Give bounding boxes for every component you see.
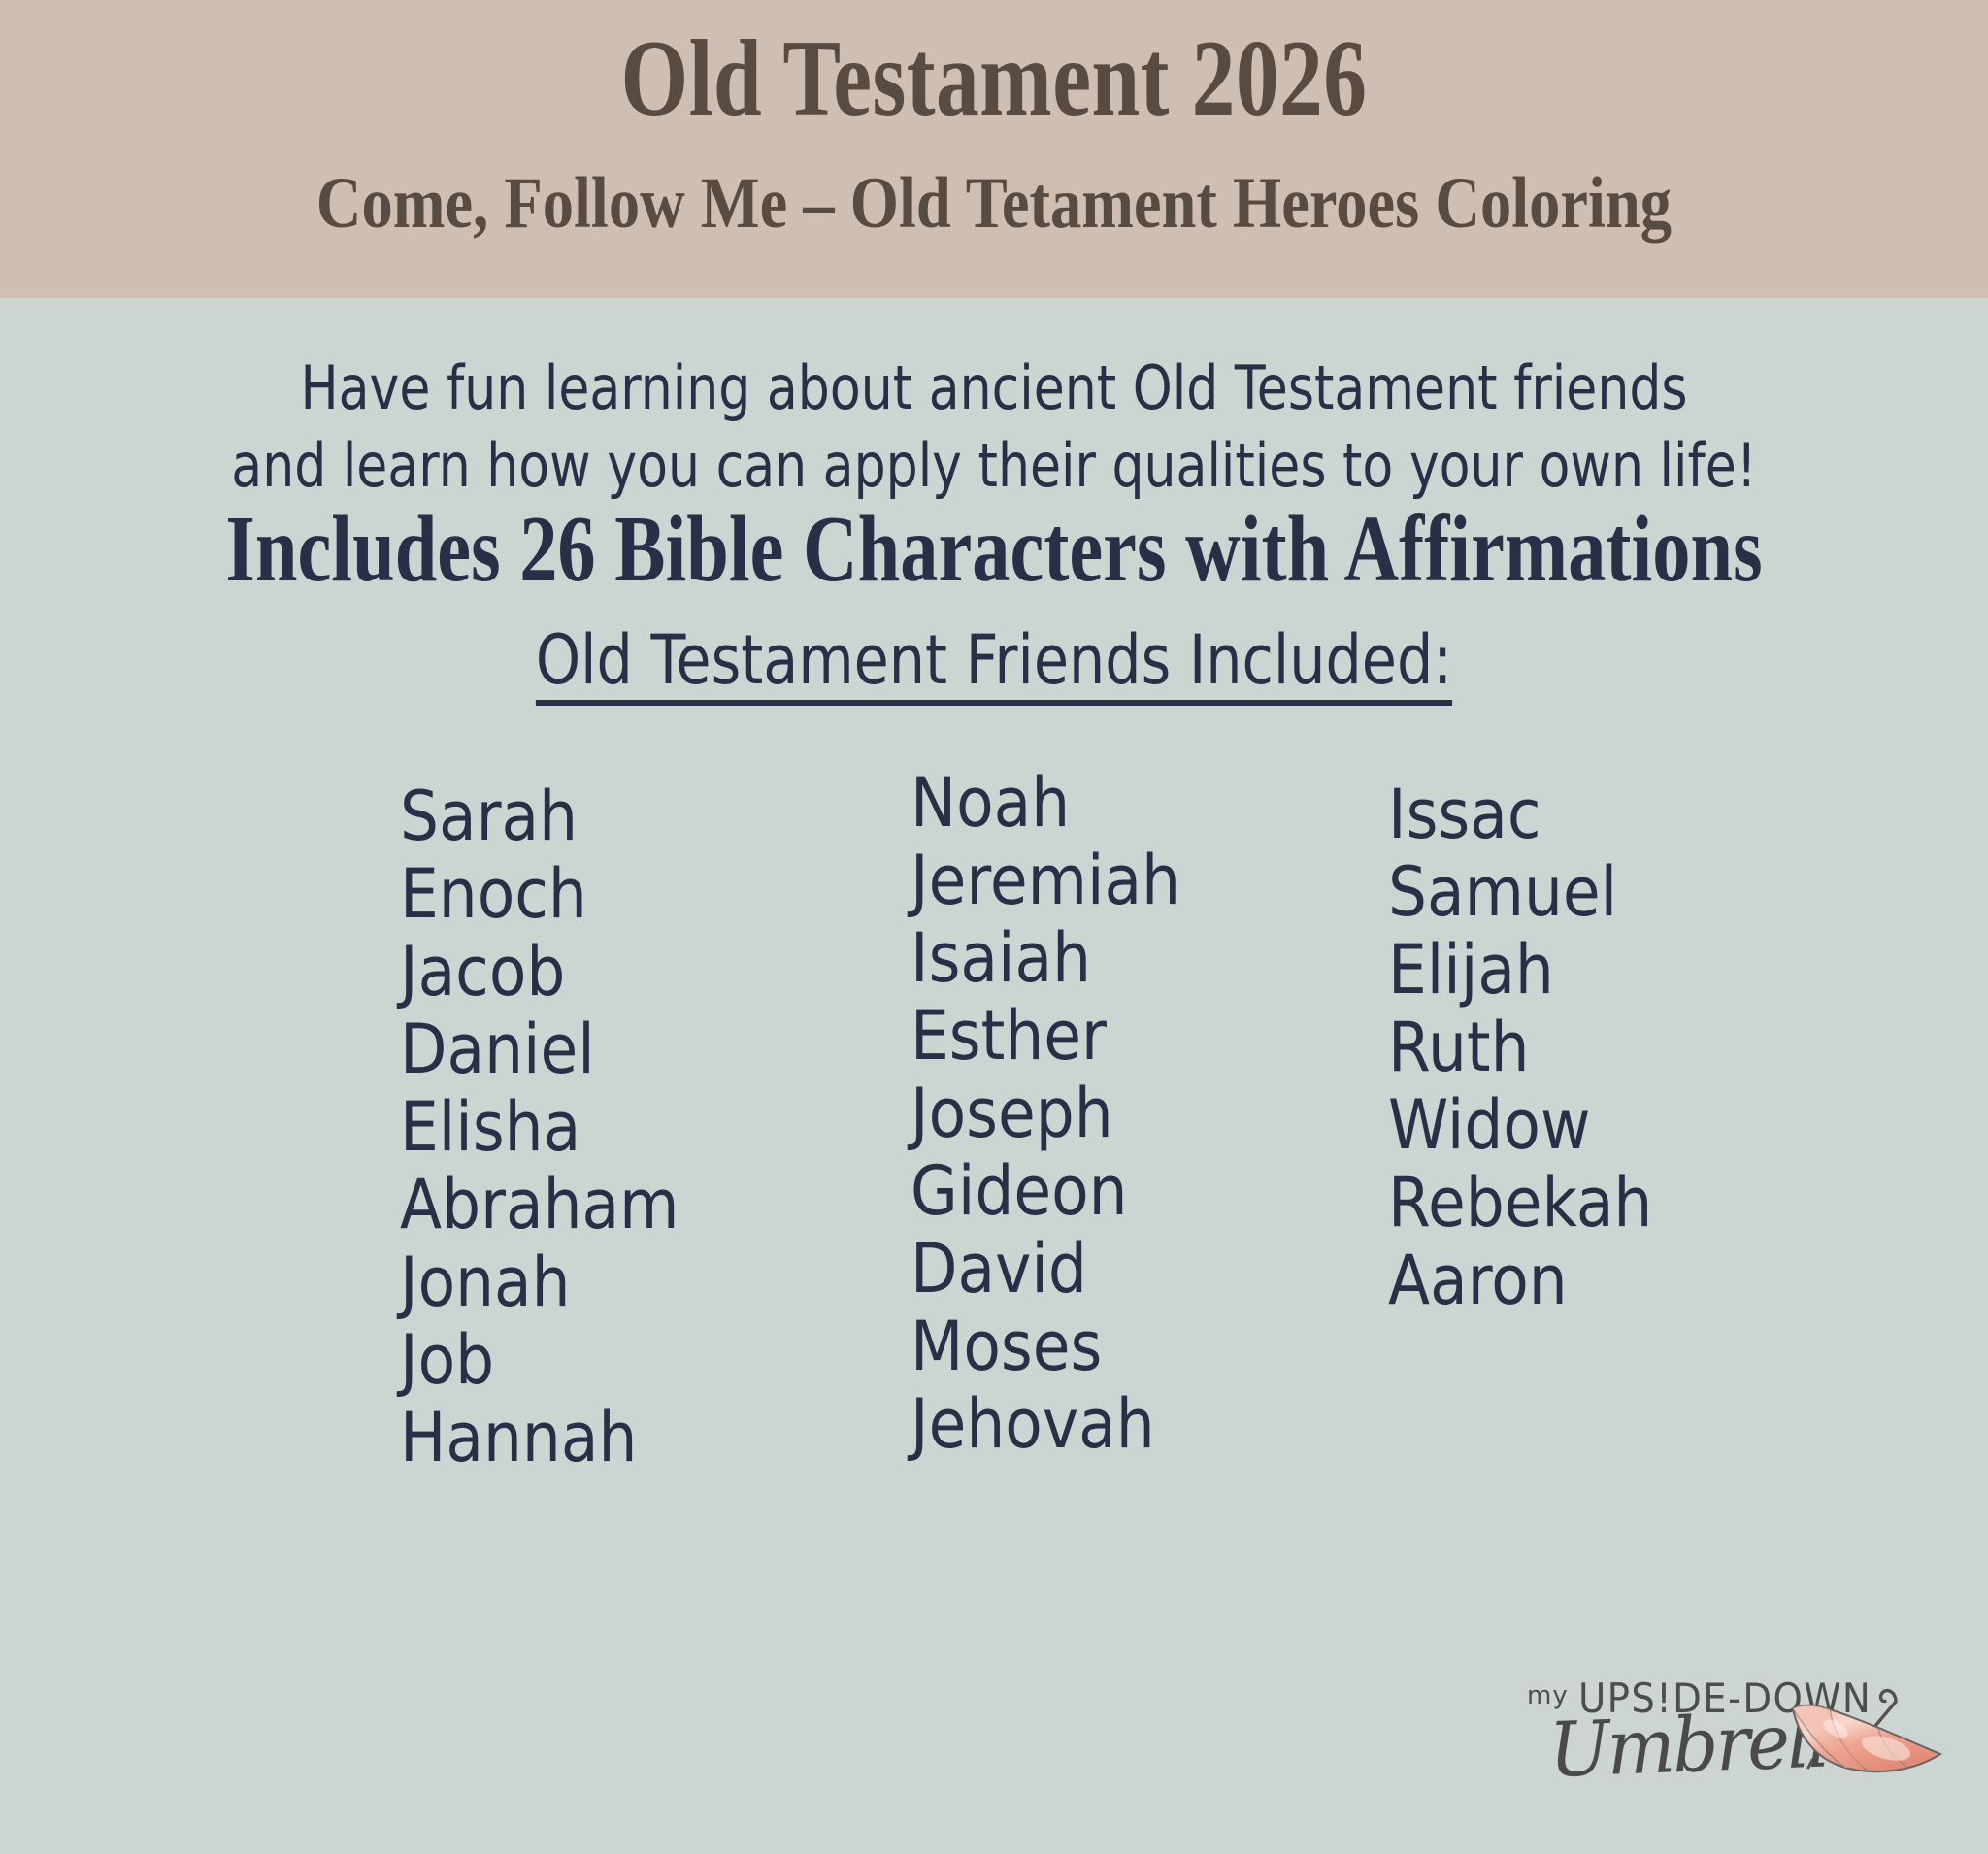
names-column-1: Sarah Enoch Jacob Daniel Elisha Abraham … (400, 778, 710, 1476)
names-grid: Sarah Enoch Jacob Daniel Elisha Abraham … (0, 298, 1988, 1562)
umbrella-icon (1740, 1678, 1964, 1804)
list-item: Rebekah (1388, 1164, 1652, 1242)
list-item: Moses (911, 1308, 1180, 1385)
list-item: Issac (1388, 776, 1652, 853)
list-item: Abraham (400, 1166, 679, 1243)
page-subtitle: Come, Follow Me – Old Tetament Heroes Co… (139, 167, 1848, 240)
list-item: Daniel (400, 1010, 679, 1088)
list-item: Samuel (1388, 853, 1652, 931)
list-item: Gideon (911, 1152, 1180, 1230)
header-band: Old Testament 2026 Come, Follow Me – Old… (0, 0, 1988, 298)
list-item: Isaiah (911, 919, 1180, 997)
list-item: Jonah (400, 1243, 679, 1321)
list-item: Job (400, 1321, 679, 1399)
names-column-2: Noah Jeremiah Isaiah Esther Joseph Gideo… (911, 764, 1210, 1463)
list-item: Noah (911, 764, 1180, 842)
brand-logo: my UPS!DE-DOWN Umbrella (1503, 1674, 1959, 1854)
page-title: Old Testament 2026 (199, 21, 1789, 137)
list-item: David (911, 1230, 1180, 1308)
list-item: Sarah (400, 778, 679, 855)
list-item: Jehovah (911, 1385, 1180, 1463)
list-item: Jacob (400, 933, 679, 1010)
list-item: Ruth (1388, 1009, 1652, 1086)
names-column-3: Issac Samuel Elijah Ruth Widow Rebekah A… (1388, 776, 1682, 1319)
list-item: Widow (1388, 1086, 1652, 1164)
list-item: Esther (911, 997, 1180, 1075)
body-area: Have fun learning about ancient Old Test… (0, 298, 1988, 1562)
list-item: Elijah (1388, 931, 1652, 1009)
list-item: Aaron (1388, 1242, 1652, 1319)
list-item: Jeremiah (911, 842, 1180, 919)
list-item: Enoch (400, 855, 679, 933)
poster-page: Old Testament 2026 Come, Follow Me – Old… (0, 0, 1988, 1562)
list-item: Elisha (400, 1088, 679, 1166)
list-item: Hannah (400, 1399, 679, 1476)
list-item: Joseph (911, 1075, 1180, 1152)
